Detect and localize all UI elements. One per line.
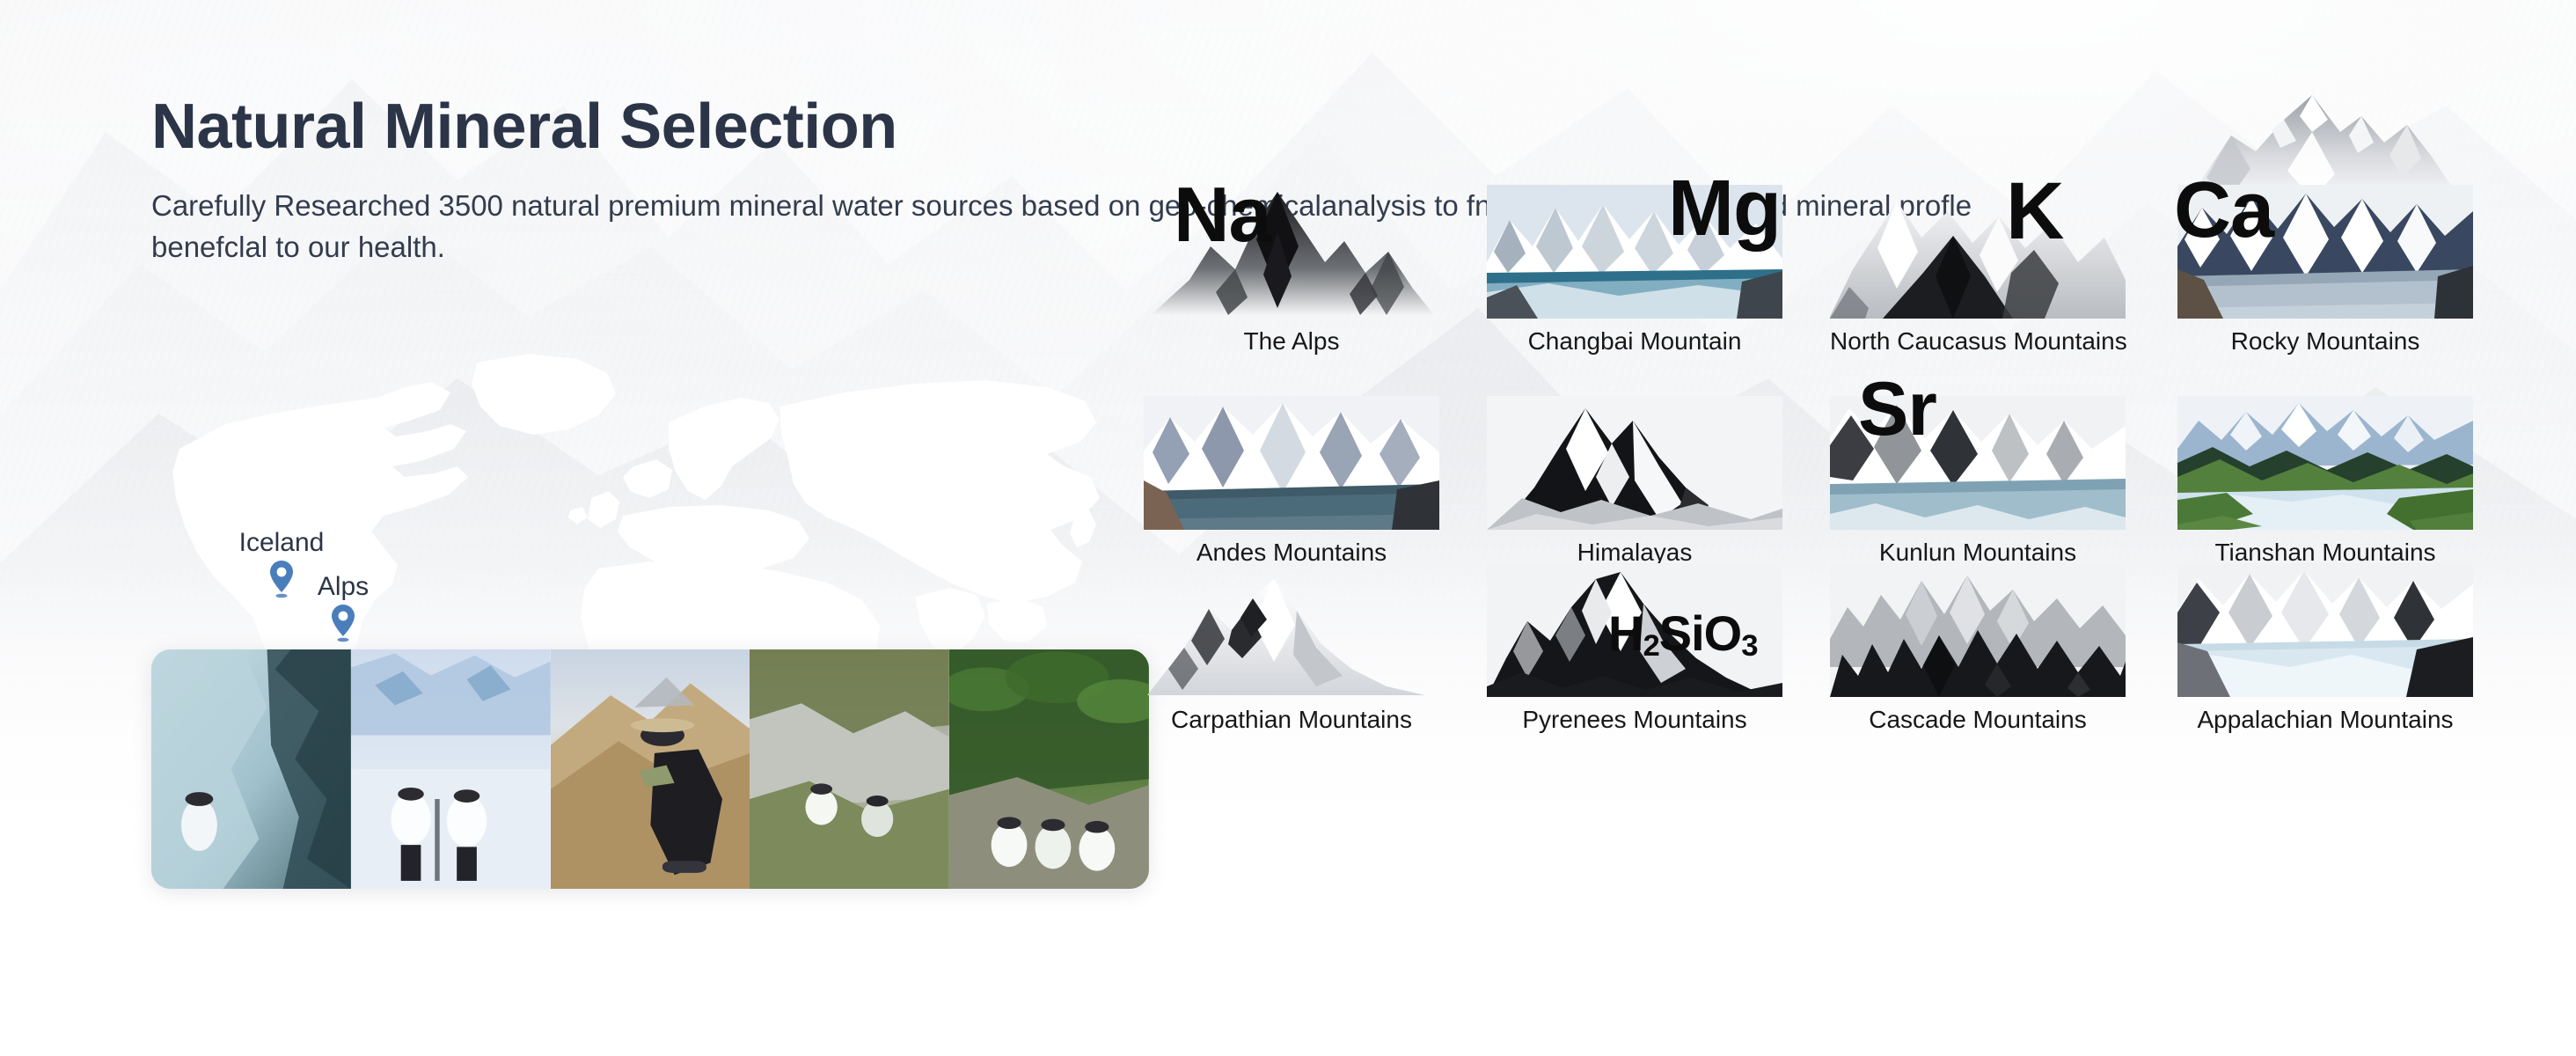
research-photo[interactable] xyxy=(351,649,551,889)
mountain-illustration xyxy=(1144,185,1439,319)
map-pin-label-iceland: Iceland xyxy=(239,528,325,558)
mountain-illustration xyxy=(2177,563,2473,697)
mineral-card-carpathian-mountains[interactable]: Carpathian Mountains xyxy=(1144,563,1439,734)
mountain-illustration xyxy=(1487,185,1782,319)
map-pin-icon xyxy=(267,560,296,598)
mineral-card-kunlun-mountains[interactable]: Sr Kunlun Mountains xyxy=(1830,396,2126,567)
mineral-card-pyrenees-mountains[interactable]: H2SiO3 Pyrenees Mountains xyxy=(1487,563,1782,734)
mineral-card-label: The Alps xyxy=(1144,327,1439,356)
mountain-illustration xyxy=(1487,396,1782,530)
map-pin-icon xyxy=(328,604,358,642)
mineral-card-andes-mountains[interactable]: Andes Mountains xyxy=(1144,396,1439,567)
research-photo[interactable] xyxy=(949,649,1149,889)
research-photo-strip xyxy=(151,649,1149,889)
mineral-card-north-caucasus-mountains[interactable]: K North Caucasus Mountains xyxy=(1830,185,2126,356)
mountain-illustration xyxy=(1487,563,1782,697)
mineral-card-cascade-mountains[interactable]: Cascade Mountains xyxy=(1830,563,2126,734)
mineral-card-label: Cascade Mountains xyxy=(1830,706,2126,734)
mineral-source-grid: Sierra Nevada Na The Alps xyxy=(1135,132,2507,915)
research-photo[interactable] xyxy=(551,649,750,889)
mountain-illustration xyxy=(1830,396,2126,530)
mineral-card-label: North Caucasus Mountains xyxy=(1830,327,2126,356)
world-map-block: Iceland Alps xyxy=(141,343,1117,695)
mineral-card-rocky-mountains[interactable]: Ca Rocky Mountains xyxy=(2177,185,2473,356)
mineral-card-label: Appalachian Mountains xyxy=(2177,706,2473,734)
mineral-card-the-alps[interactable]: Na The Alps xyxy=(1144,185,1439,356)
mineral-card-appalachian-mountains[interactable]: Appalachian Mountains xyxy=(2177,563,2473,734)
mineral-card-label: Rocky Mountains xyxy=(2177,327,2473,356)
map-pin-label-alps: Alps xyxy=(318,572,369,602)
mineral-card-tianshan-mountains[interactable]: Tianshan Mountains xyxy=(2177,396,2473,567)
mountain-illustration xyxy=(1830,185,2126,319)
mineral-card-himalayas[interactable]: Himalayas xyxy=(1487,396,1782,567)
map-pin-alps[interactable]: Alps xyxy=(317,546,370,642)
mineral-card-label: Changbai Mountain xyxy=(1487,327,1782,356)
map-pin-iceland[interactable]: Iceland xyxy=(255,503,308,598)
page-root: Natural Mineral Selection Carefully Rese… xyxy=(0,0,2576,1056)
mountain-illustration xyxy=(1144,563,1439,697)
research-photo[interactable] xyxy=(750,649,949,889)
research-photo[interactable] xyxy=(151,649,351,889)
mountain-illustration xyxy=(1830,563,2126,697)
mountain-illustration xyxy=(2177,185,2473,319)
mineral-card-changbai-mountain[interactable]: Mg Changbai Mountain xyxy=(1487,185,1782,356)
mountain-illustration xyxy=(1144,396,1439,530)
mountain-illustration xyxy=(2177,396,2473,530)
mineral-card-label: Pyrenees Mountains xyxy=(1487,706,1782,734)
mineral-card-label: Carpathian Mountains xyxy=(1144,706,1439,734)
